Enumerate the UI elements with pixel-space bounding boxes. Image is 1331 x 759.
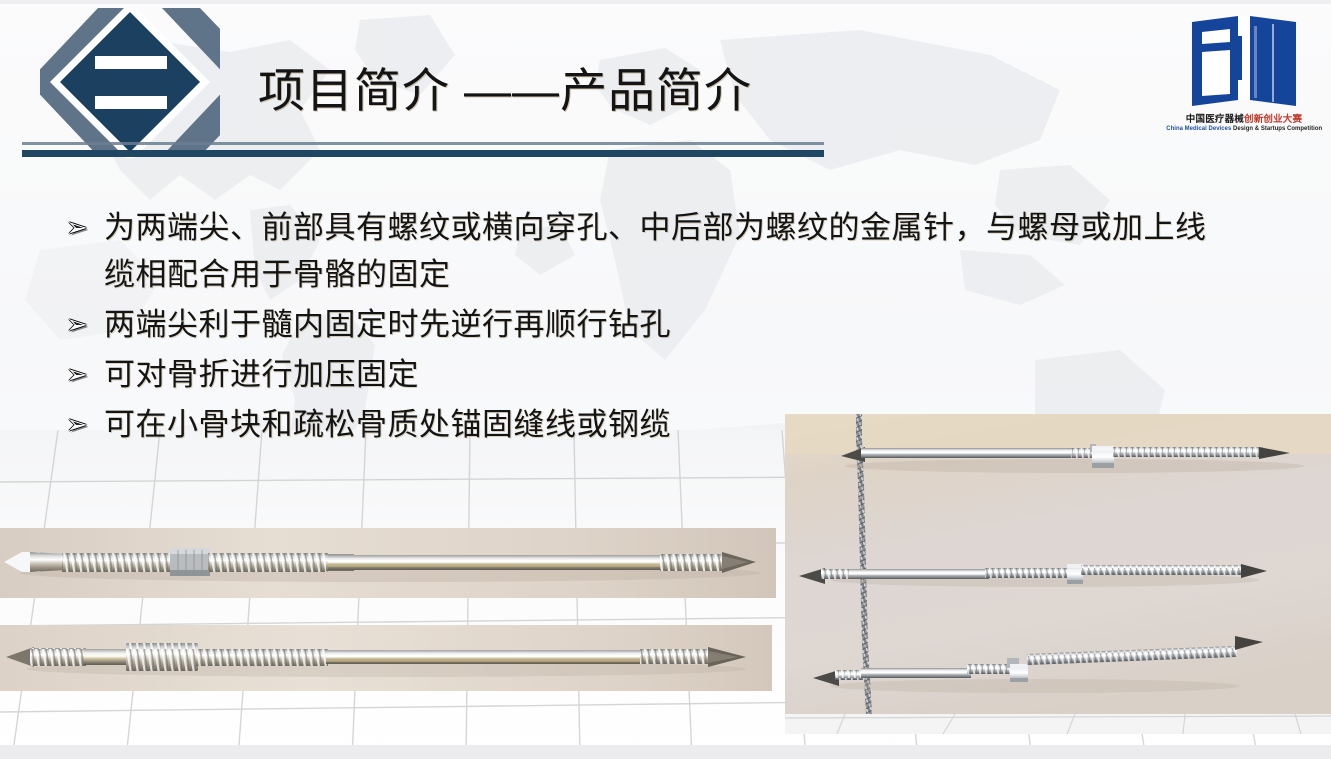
diamond-emblem-logo: [40, 8, 220, 158]
photo-threaded-pin-double-point: [0, 625, 772, 691]
arrow-bullet-icon: ➢: [58, 401, 104, 447]
list-item: ➢ 两端尖利于髓内固定时先逆行再顺行钻孔: [58, 301, 1218, 348]
list-item-label: 为两端尖、前部具有螺纹或横向穿孔、中后部为螺纹的金属针，与螺母或加上线缆相配合用…: [104, 204, 1218, 298]
competition-logo-english: China Medical Devices Design & Startups …: [1166, 125, 1322, 133]
arrow-bullet-icon: ➢: [58, 351, 104, 397]
page-title-sub: 产品简介: [560, 64, 752, 117]
arrow-bullet-icon: ➢: [58, 204, 104, 250]
list-item-label: 可对骨折进行加压固定: [104, 351, 1218, 398]
photo-pins-with-cable-assembly: [785, 414, 1331, 734]
page-title: 项目简介 ——产品简介: [258, 62, 752, 120]
list-item: ➢ 可对骨折进行加压固定: [58, 351, 1218, 398]
competition-cn-prefix: 中国医疗器械: [1186, 114, 1244, 125]
page-title-main: 项目简介: [258, 64, 450, 117]
list-item-label: 两端尖利于髓内固定时先逆行再顺行钻孔: [104, 301, 1218, 348]
open-door-icon: [1188, 12, 1300, 110]
slide-top-edge: [0, 0, 1331, 4]
presentation-slide: 项目简介 ——产品简介 中: [0, 0, 1331, 759]
title-divider-thin: [22, 142, 824, 145]
slide-bottom-edge: [0, 745, 1331, 759]
arrow-bullet-icon: ➢: [58, 301, 104, 347]
page-title-dash: ——: [450, 64, 560, 117]
photo-threaded-pin-with-nut: [0, 528, 776, 598]
list-item: ➢ 为两端尖、前部具有螺纹或横向穿孔、中后部为螺纹的金属针，与螺母或加上线缆相配…: [58, 204, 1218, 298]
competition-logo-chinese: 中国医疗器械创新创业大赛: [1186, 114, 1302, 125]
competition-en-rest: Design & Startups Competition: [1231, 125, 1322, 132]
competition-en-highlight: China Medical Devices: [1166, 125, 1231, 132]
competition-cn-highlight: 创新创业大赛: [1244, 114, 1302, 125]
competition-logo: 中国医疗器械创新创业大赛 China Medical Devices Desig…: [1173, 12, 1315, 160]
title-divider-thick: [22, 150, 824, 157]
